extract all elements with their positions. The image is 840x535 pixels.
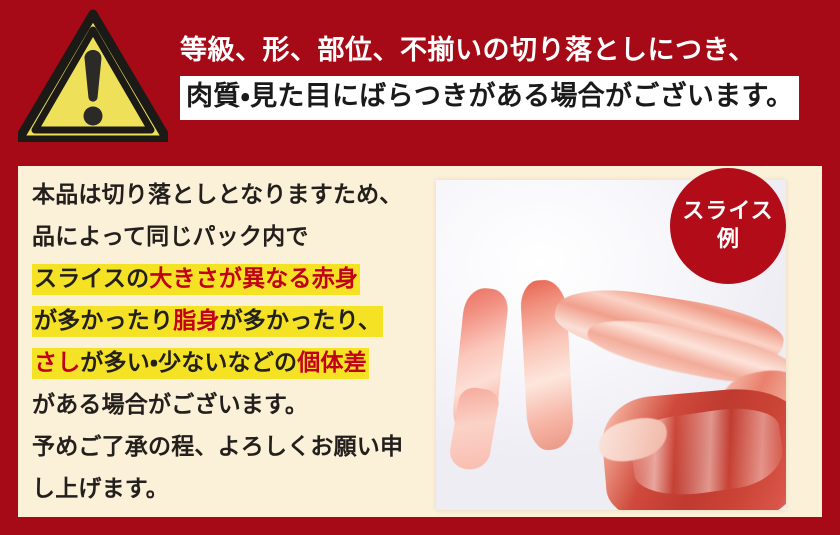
header-line-2: 肉質・見た目にばらつきがある場合がございます。 — [180, 76, 799, 120]
plain-text: がある場合がございます。 — [32, 392, 308, 418]
plain-text: スライスの — [34, 266, 149, 292]
plain-text: し上げます。 — [32, 476, 169, 502]
accent-text: さし — [34, 350, 80, 376]
plain-text: が多い・少ないなどの — [80, 350, 297, 376]
disclaimer-line: スライスの大きさが異なる赤身 — [32, 258, 432, 300]
highlighted-phrase: スライスの大きさが異なる赤身 — [32, 264, 360, 295]
header-line-2-wrapper: 肉質・見た目にばらつきがある場合がございます。 — [180, 76, 799, 120]
disclaimer-line: 予めご了承の程、よろしくお願い申 — [32, 426, 432, 468]
plain-text: 品によって同じパック内で — [32, 224, 309, 250]
disclaimer-line: 品によって同じパック内で — [32, 216, 432, 258]
plain-text: 本品は切り落としとなりますため、 — [32, 182, 403, 208]
disclaimer-line: さしが多い・少ないなどの個体差 — [32, 342, 432, 384]
disclaimer-line: がある場合がございます。 — [32, 384, 432, 426]
disclaimer-line: が多かったり脂身が多かったり、 — [32, 300, 432, 342]
body-frame: 本品は切り落としとなりますため、品によって同じパック内でスライスの大きさが異なる… — [0, 150, 840, 535]
badge-line-1: スライス — [682, 198, 773, 226]
highlighted-phrase: が多かったり脂身が多かったり、 — [32, 306, 383, 337]
warning-triangle-exclamation-icon — [18, 8, 168, 142]
banner-header: 等級、形、部位、不揃いの切り落としにつき、 肉質・見た目にばらつきがある場合がご… — [0, 0, 840, 150]
plain-text: 予めご了承の程、よろしくお願い申 — [32, 434, 403, 460]
badge-line-2: 例 — [717, 226, 739, 254]
product-disclaimer-banner: 等級、形、部位、不揃いの切り落としにつき、 肉質・見た目にばらつきがある場合がご… — [0, 0, 840, 535]
disclaimer-copy: 本品は切り落としとなりますため、品によって同じパック内でスライスの大きさが異なる… — [32, 174, 432, 510]
accent-text: 脂身 — [173, 308, 219, 334]
accent-text: 個体差 — [297, 350, 367, 376]
disclaimer-line: 本品は切り落としとなりますため、 — [32, 174, 432, 216]
plain-text: が多かったり、 — [220, 308, 381, 334]
header-line-1: 等級、形、部位、不揃いの切り落としにつき、 — [180, 30, 830, 72]
header-text-block: 等級、形、部位、不揃いの切り落としにつき、 肉質・見た目にばらつきがある場合がご… — [180, 30, 830, 120]
plain-text: が多かったり — [34, 308, 173, 334]
slice-example-badge: スライス 例 — [670, 168, 786, 284]
disclaimer-line: し上げます。 — [32, 468, 432, 510]
highlighted-phrase: さしが多い・少ないなどの個体差 — [32, 348, 369, 379]
accent-text: 大きさが異なる赤身 — [149, 266, 358, 292]
